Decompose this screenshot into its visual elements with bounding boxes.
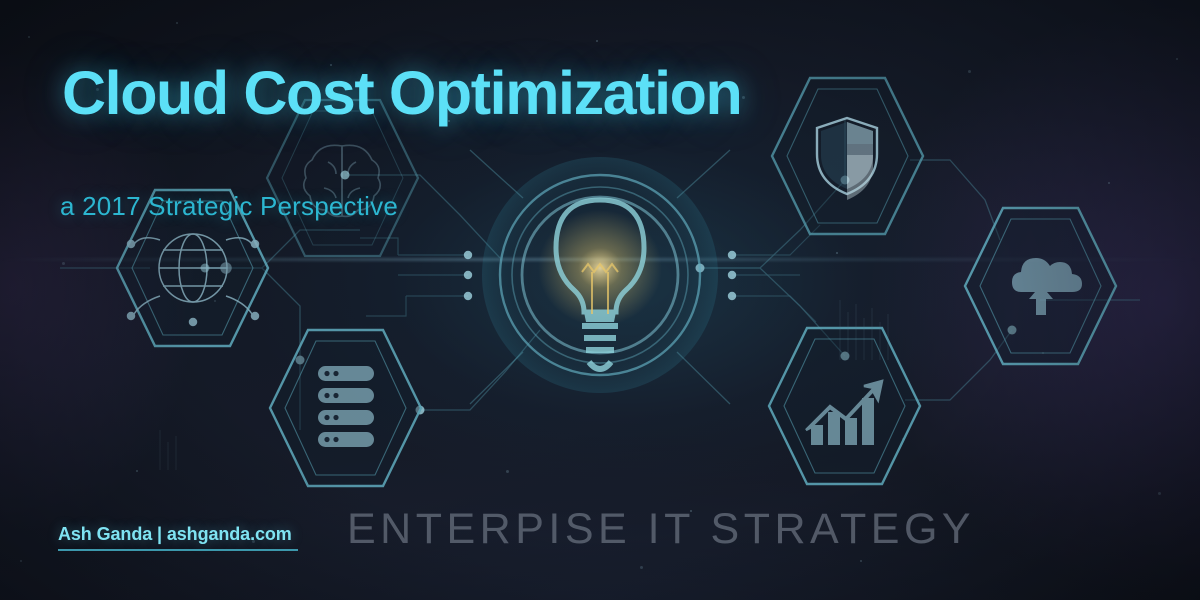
slide-subtitle: a 2017 Strategic Perspective xyxy=(60,191,398,222)
slide-title: Cloud Cost Optimization xyxy=(62,58,741,128)
byline-underline xyxy=(58,549,298,551)
author-byline: Ash Ganda | ashganda.com xyxy=(58,524,292,545)
presentation-title-slide: ENTERPISE IT STRATEGY Cloud Cost Optimiz… xyxy=(0,0,1200,600)
background-tagline: ENTERPISE IT STRATEGY xyxy=(347,505,975,554)
